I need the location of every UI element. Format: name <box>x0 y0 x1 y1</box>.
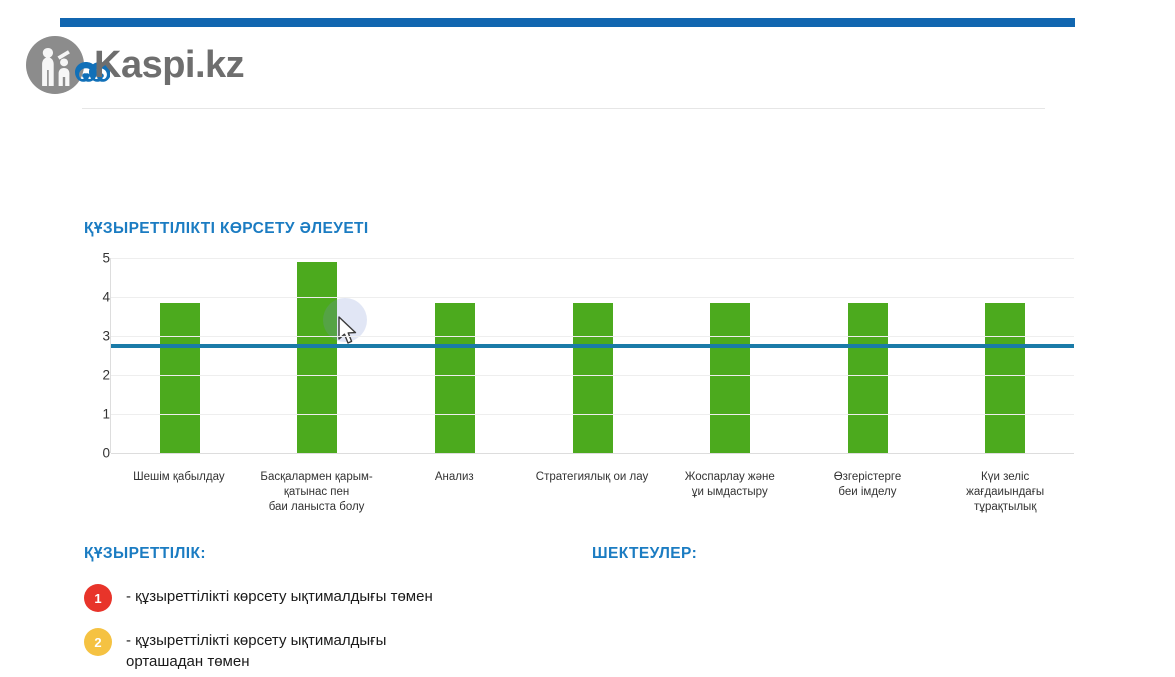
bar-1[interactable] <box>160 303 200 453</box>
y-axis-tick-2: 2 <box>84 368 110 383</box>
brand-logo[interactable]: Kaspi.kz <box>26 36 326 94</box>
x-axis-label-1: Шешім қабылдау <box>110 470 248 515</box>
x-axis-category-labels: Шешім қабылдауБасқалармен қарым- қатынас… <box>110 470 1074 515</box>
bar-5[interactable] <box>710 303 750 453</box>
legend-text: - құзыреттілікті көрсету ықтималдығы орт… <box>126 627 386 672</box>
legend-item: 2- құзыреттілікті көрсету ықтималдығы ор… <box>84 627 644 672</box>
bar-slot <box>386 258 524 453</box>
header-accent-bar <box>60 18 1075 27</box>
page-root: Kaspi.kz ҚҰЗЫРЕТТІЛІКТІ КӨРСЕТУ ӘЛЕУЕТІ … <box>0 0 1175 677</box>
bar-slot <box>111 258 249 453</box>
legend-badge-2: 2 <box>84 628 112 656</box>
plot-area <box>110 258 1074 453</box>
bar-slot <box>249 258 387 453</box>
bar-slot <box>661 258 799 453</box>
x-axis-label-5: Жоспарлау және ұи ымдастыру <box>661 470 799 515</box>
legend-badge-1: 1 <box>84 584 112 612</box>
bar-2[interactable] <box>297 262 337 453</box>
bar-7[interactable] <box>985 303 1025 453</box>
y-axis-tick-4: 4 <box>84 290 110 305</box>
chart-title: ҚҰЗЫРЕТТІЛІКТІ КӨРСЕТУ ӘЛЕУЕТІ <box>84 220 369 238</box>
gridline <box>111 297 1074 298</box>
header-divider <box>82 108 1045 109</box>
bar-4[interactable] <box>573 303 613 453</box>
bar-series <box>111 258 1074 453</box>
bar-slot <box>936 258 1074 453</box>
x-axis-label-4: Стратегиялық ои лау <box>523 470 661 515</box>
legend-item: 1- құзыреттілікті көрсету ықтималдығы тө… <box>84 583 644 613</box>
legend-heading-competency: ҚҰЗЫРЕТТІЛІК: <box>84 545 206 563</box>
bar-slot <box>524 258 662 453</box>
x-axis-label-2: Басқалармен қарым- қатынас пен баи ланыс… <box>248 470 386 515</box>
y-axis-tick-1: 1 <box>84 407 110 422</box>
bar-6[interactable] <box>848 303 888 453</box>
gridline <box>111 258 1074 259</box>
bar-3[interactable] <box>435 303 475 453</box>
reference-line <box>111 344 1074 348</box>
x-axis-label-7: Күи зеліс жағдаиындағы тұрақтылық <box>936 470 1074 515</box>
x-axis-label-3: Анализ <box>385 470 523 515</box>
gridline <box>111 336 1074 337</box>
y-axis-tick-3: 3 <box>84 329 110 344</box>
y-axis-tick-5: 5 <box>84 251 110 266</box>
legend-heading-limits: ШЕКТЕУЛЕР: <box>592 545 697 563</box>
legend-text: - құзыреттілікті көрсету ықтималдығы төм… <box>126 583 433 607</box>
bar-slot <box>799 258 937 453</box>
brand-name: Kaspi.kz <box>94 38 244 92</box>
legend-items: 1- құзыреттілікті көрсету ықтималдығы тө… <box>84 583 644 677</box>
y-axis-tick-labels: 543210 <box>84 258 110 453</box>
gridline <box>111 375 1074 376</box>
gridline <box>111 453 1074 454</box>
gridline <box>111 414 1074 415</box>
y-axis-tick-0: 0 <box>84 446 110 461</box>
x-axis-label-6: Өзгерістерге беи імделу <box>799 470 937 515</box>
competency-bar-chart: 543210 <box>84 258 1074 463</box>
